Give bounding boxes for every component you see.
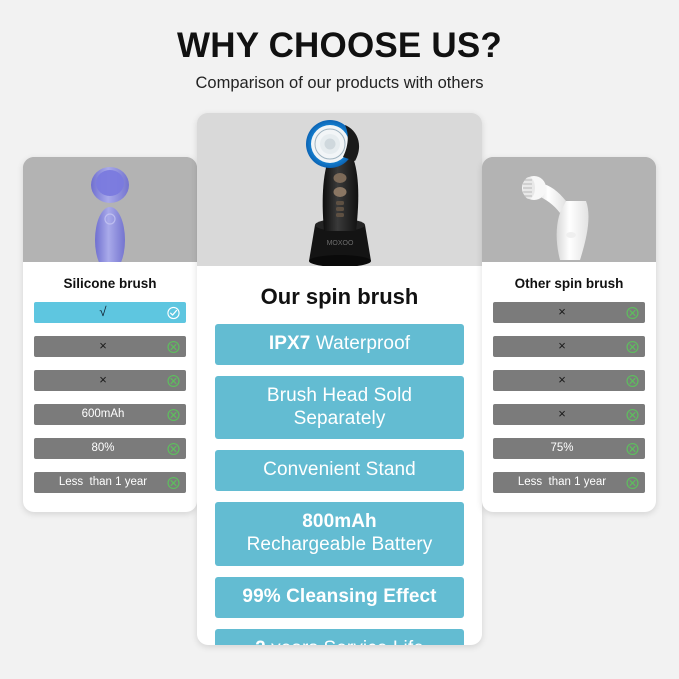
row-value: Convenient Stand	[253, 450, 426, 491]
row-value: √	[93, 305, 126, 320]
table-row: IPX7 Waterproof	[215, 324, 464, 365]
cross-circle-icon	[626, 442, 639, 455]
row-value-bold: 800mAh	[302, 511, 377, 532]
row-value-rest: Brush Head Sold Separately	[267, 385, 412, 429]
spin-brush-black-icon: MOXOO	[197, 113, 482, 266]
table-row: ×	[34, 370, 186, 391]
cross-circle-icon	[626, 374, 639, 387]
row-value: IPX7 Waterproof	[259, 324, 420, 365]
row-value: Less than 1 year	[512, 476, 626, 489]
row-value: ×	[552, 373, 586, 388]
row-value: ×	[93, 373, 127, 388]
spin-brush-white-icon	[482, 157, 656, 262]
cross-circle-icon	[626, 408, 639, 421]
cross-circle-icon	[626, 340, 639, 353]
table-row: 800mAh Rechargeable Battery	[215, 502, 464, 566]
row-value: 2 years Service Life	[245, 629, 434, 645]
table-row: Brush Head Sold Separately	[215, 376, 464, 440]
row-value: 800mAh Rechargeable Battery	[237, 502, 443, 566]
column-title-right: Other spin brush	[482, 276, 656, 291]
table-row: ×	[493, 302, 645, 323]
infographic-canvas: WHY CHOOSE US? Comparison of our product…	[0, 0, 679, 679]
row-value-rest: Convenient Stand	[263, 459, 416, 480]
table-row: Less than 1 year	[493, 472, 645, 493]
table-row: ×	[493, 336, 645, 357]
column-title-left: Silicone brush	[23, 276, 197, 291]
column-title-center: Our spin brush	[197, 284, 482, 310]
row-value-bold: 2	[255, 638, 266, 645]
table-row: 600mAh	[34, 404, 186, 425]
row-value: ×	[552, 305, 586, 320]
cross-circle-icon	[167, 442, 180, 455]
row-value: 600mAh	[76, 408, 145, 421]
table-row: Convenient Stand	[215, 450, 464, 491]
cross-circle-icon	[626, 476, 639, 489]
cross-circle-icon	[167, 408, 180, 421]
row-value-bold: 99% Cleansing Effect	[242, 586, 436, 607]
row-value-rest: years Service Life	[266, 638, 424, 645]
row-value: ×	[93, 339, 127, 354]
cross-circle-icon	[167, 476, 180, 489]
product-photo-our-spin-brush: MOXOO	[197, 113, 482, 266]
row-value: Less than 1 year	[53, 476, 167, 489]
row-value: ×	[552, 407, 586, 422]
svg-text:MOXOO: MOXOO	[327, 240, 354, 247]
product-photo-silicone-brush	[23, 157, 197, 262]
feature-rows-right: × × × ×	[482, 302, 656, 493]
row-value: 99% Cleansing Effect	[232, 577, 446, 618]
table-row: Less than 1 year	[34, 472, 186, 493]
table-row: 75%	[493, 438, 645, 459]
table-row: ×	[493, 404, 645, 425]
row-value: 75%	[544, 442, 593, 455]
silicone-brush-icon	[23, 157, 197, 262]
feature-rows-center: IPX7 Waterproof Brush Head Sold Separate…	[197, 324, 482, 645]
page-title: WHY CHOOSE US?	[0, 26, 679, 66]
comparison-card-center: MOXOO Our spin brush IPX7 Wa	[197, 113, 482, 645]
table-row: ×	[34, 336, 186, 357]
cross-circle-icon	[626, 306, 639, 319]
cross-circle-icon	[167, 340, 180, 353]
row-value-bold: IPX7	[269, 333, 311, 354]
comparison-card-right: Other spin brush × × ×	[482, 157, 656, 512]
table-row: √	[34, 302, 186, 323]
row-value-rest: Waterproof	[310, 333, 410, 354]
cross-circle-icon	[167, 374, 180, 387]
row-value: ×	[552, 339, 586, 354]
row-value-rest: Rechargeable Battery	[247, 534, 433, 555]
table-row: 80%	[34, 438, 186, 459]
row-value: 80%	[85, 442, 134, 455]
table-row: ×	[493, 370, 645, 391]
page-subtitle: Comparison of our products with others	[0, 74, 679, 93]
comparison-card-left: Silicone brush √ × × 60	[23, 157, 197, 512]
row-value: Brush Head Sold Separately	[257, 376, 422, 440]
check-circle-icon	[167, 306, 180, 319]
product-photo-other-spin-brush	[482, 157, 656, 262]
feature-rows-left: √ × × 600mAh	[23, 302, 197, 493]
table-row: 2 years Service Life	[215, 629, 464, 645]
table-row: 99% Cleansing Effect	[215, 577, 464, 618]
